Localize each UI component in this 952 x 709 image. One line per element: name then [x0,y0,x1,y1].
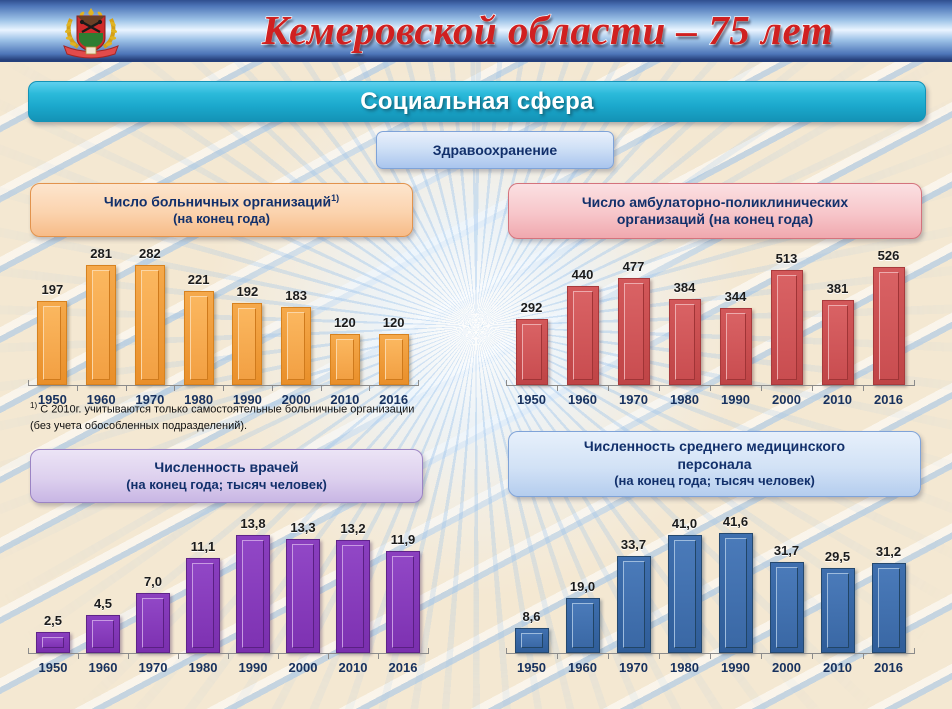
bar-value-label: 31,2 [863,544,914,559]
chart-plot-number-of-doctors: 2,54,57,011,113,813,313,211,9 [28,515,428,653]
axis-tick [77,385,78,391]
bar-category: 11,1 [178,515,228,653]
bar-category: 344 [710,250,761,385]
axis-tick [914,648,915,654]
bar-category: 183 [272,250,321,385]
axis-category-label: 1970 [608,392,659,407]
bar-inner-bevel [777,275,797,380]
bar-category: 384 [659,250,710,385]
chart-subtitle: (на конец года) [173,211,270,227]
chart-axis-outpatient-organizations [506,385,914,392]
axis-tick [710,385,711,391]
bar-value-label: 13,8 [228,516,278,531]
bar-series: 292440477384344513381526 [506,250,914,385]
bar-inner-bevel [674,540,696,648]
bar-inner-bevel [292,544,314,648]
axis-tick [278,653,279,659]
axis-category-label: 1950 [506,392,557,407]
bar-value-label: 8,6 [506,609,557,624]
bar [86,265,116,385]
chart-title-line1: Число амбулаторно-поликлинических [582,194,848,212]
bar-inner-bevel [385,339,403,380]
bar-category: 31,2 [863,505,914,653]
bar-category: 513 [761,250,812,385]
bar [770,562,804,653]
bar-inner-bevel [726,313,746,380]
bar-inner-bevel [827,573,849,648]
bar-inner-bevel [42,637,64,648]
bar-inner-bevel [878,568,900,648]
chart-plot-hospital-organizations: 197281282221192183120120 [28,250,418,385]
bar-category: 33,7 [608,505,659,653]
bar [617,556,651,653]
bar-category: 19,0 [557,505,608,653]
axis-tick [328,653,329,659]
bar-category: 11,9 [378,515,428,653]
bar [281,307,311,385]
header-banner: Кемеровской области – 75 лет [0,0,952,62]
bar-inner-bevel [336,339,354,380]
axis-category-label: 2016 [863,660,914,675]
axis-tick [378,653,379,659]
bar-category: 192 [223,250,272,385]
chart-title-line1: Численность врачей [154,459,298,477]
bar-inner-bevel [92,620,114,648]
subsection-label: Здравоохранение [433,142,557,158]
bar-category: 197 [28,250,77,385]
axis-tick [28,380,29,386]
axis-tick [418,380,419,386]
bar [872,563,906,653]
bar-value-label: 19,0 [557,579,608,594]
footnote: 1) С 2010г. учитываются только самостоят… [30,400,430,435]
bar-value-label: 29,5 [812,549,863,564]
bar-category: 13,2 [328,515,378,653]
axis-tick [608,653,609,659]
bar-inner-bevel [879,272,899,380]
axis-tick [369,385,370,391]
bar-inner-bevel [675,304,695,380]
bar-value-label: 4,5 [78,596,128,611]
axis-tick [812,653,813,659]
axis-category-label: 2010 [328,660,378,675]
axis-category-label: 2016 [378,660,428,675]
axis-category-label: 2000 [278,660,328,675]
bar [618,278,650,385]
bar-category: 4,5 [78,515,128,653]
bar-value-label: 292 [506,300,557,315]
axis-tick [223,385,224,391]
axis-category-label: 1990 [228,660,278,675]
axis-tick [178,653,179,659]
bar-category: 41,0 [659,505,710,653]
axis-tick [506,648,507,654]
chart-title-outpatient-organizations: Число амбулаторно-поликлинических органи… [508,183,922,239]
bar-series: 197281282221192183120120 [28,250,418,385]
bar-value-label: 477 [608,259,659,274]
bar-category: 381 [812,250,863,385]
bar [516,319,548,385]
bar-category: 2,5 [28,515,78,653]
bar-value-label: 31,7 [761,543,812,558]
bar-value-label: 197 [28,282,77,297]
axis-category-label: 2010 [812,392,863,407]
bar-inner-bevel [776,567,798,648]
bar [336,540,370,653]
bar-value-label: 2,5 [28,613,78,628]
kemerovo-coat-of-arms-icon [58,3,124,59]
axis-tick [28,648,29,654]
axis-tick [914,380,915,386]
bar-inner-bevel [522,324,542,380]
bar-inner-bevel [572,603,594,648]
axis-category-label: 1980 [178,660,228,675]
bar [567,286,599,385]
chart-title-nursing-staff: Численность среднего медицинского персон… [508,431,921,497]
bar [719,533,753,653]
chart-axis-hospital-organizations [28,385,418,392]
axis-tick [710,653,711,659]
bar-value-label: 11,1 [178,539,228,554]
bar-inner-bevel [573,291,593,380]
bar-category: 120 [369,250,418,385]
bar-inner-bevel [43,306,61,380]
bar [668,535,702,653]
axis-category-label: 1970 [608,660,659,675]
axis-tick [557,653,558,659]
axis-category-label: 1960 [78,660,128,675]
axis-category-label: 1980 [659,392,710,407]
bar [86,615,120,653]
axis-tick [659,653,660,659]
bar-value-label: 440 [557,267,608,282]
chart-xlabels-outpatient-organizations: 19501960197019801990200020102016 [506,392,914,407]
bar [566,598,600,653]
bar-value-label: 41,0 [659,516,710,531]
axis-tick [506,380,507,386]
axis-tick [608,385,609,391]
bar-value-label: 13,2 [328,521,378,536]
bar [236,535,270,653]
bar [37,301,67,385]
chart-xlabels-nursing-staff: 19501960197019801990200020102016 [506,660,914,675]
bar [330,334,360,385]
bar-value-label: 183 [272,288,321,303]
chart-plot-nursing-staff: 8,619,033,741,041,631,729,531,2 [506,505,914,653]
axis-tick [428,648,429,654]
bar-category: 13,3 [278,515,328,653]
bar [36,632,70,653]
axis-category-label: 2016 [863,392,914,407]
bar [286,539,320,653]
bar-category: 31,7 [761,505,812,653]
bar-category: 477 [608,250,659,385]
chart-axis-nursing-staff [506,653,914,660]
bar-inner-bevel [392,556,414,648]
axis-category-label: 1960 [557,392,608,407]
bar [669,299,701,385]
bar-value-label: 384 [659,280,710,295]
bar-value-label: 13,3 [278,520,328,535]
bar-inner-bevel [287,312,305,380]
subsection-badge: Здравоохранение [376,131,614,169]
bar-value-label: 120 [369,315,418,330]
bar-category: 8,6 [506,505,557,653]
chart-subtitle: (на конец года; тысяч человек) [126,477,327,493]
bar [186,558,220,653]
bar [822,300,854,385]
bar-series: 8,619,033,741,041,631,729,531,2 [506,505,914,653]
axis-tick [761,653,762,659]
chart-title-line2: организаций (на конец года) [617,211,813,229]
bar [720,308,752,385]
axis-tick [126,385,127,391]
bar-category: 526 [863,250,914,385]
axis-category-label: 2000 [761,392,812,407]
axis-tick [812,385,813,391]
axis-tick [761,385,762,391]
axis-category-label: 2000 [761,660,812,675]
axis-tick [863,385,864,391]
axis-tick [174,385,175,391]
bar-inner-bevel [725,538,747,648]
page-title: Кемеровской области – 75 лет [175,2,920,58]
section-header-label: Социальная сфера [360,88,594,116]
bar-category: 221 [174,250,223,385]
footnote-text: С 2010г. учитываются только самостоятель… [30,404,414,432]
bar-series: 2,54,57,011,113,813,313,211,9 [28,515,428,653]
axis-category-label: 1960 [557,660,608,675]
bar-category: 440 [557,250,608,385]
bar-inner-bevel [141,270,159,380]
footnote-marker-text: 1) [30,401,37,410]
bar [821,568,855,653]
chart-title-line1: Число больничных организаций1) [104,193,339,211]
bar-inner-bevel [242,540,264,648]
axis-category-label: 1990 [710,660,761,675]
bar-category: 7,0 [128,515,178,653]
bar-value-label: 7,0 [128,574,178,589]
axis-tick [272,385,273,391]
bar [135,265,165,385]
bar [515,628,549,653]
bar-inner-bevel [623,561,645,648]
bar-category: 281 [77,250,126,385]
axis-category-label: 1990 [710,392,761,407]
bar-category: 120 [321,250,370,385]
chart-title-line1: Численность среднего медицинского [584,438,845,456]
bar-value-label: 221 [174,272,223,287]
bar-inner-bevel [521,633,543,648]
bar-category: 41,6 [710,505,761,653]
bar-category: 13,8 [228,515,278,653]
bar-inner-bevel [142,598,164,648]
bar-value-label: 513 [761,251,812,266]
bar-value-label: 381 [812,281,863,296]
bar-inner-bevel [192,563,214,648]
chart-plot-outpatient-organizations: 292440477384344513381526 [506,250,914,385]
bar-category: 282 [126,250,175,385]
axis-category-label: 1950 [506,660,557,675]
bar-value-label: 282 [126,246,175,261]
bar-inner-bevel [342,545,364,648]
axis-category-label: 1980 [659,660,710,675]
bar-value-label: 281 [77,246,126,261]
bar-value-label: 192 [223,284,272,299]
section-header: Социальная сфера [28,81,926,122]
bar [386,551,420,653]
axis-tick [557,385,558,391]
chart-subtitle: (на конец года; тысяч человек) [614,473,815,489]
bar-value-label: 41,6 [710,514,761,529]
bar [873,267,905,385]
axis-tick [128,653,129,659]
bar-inner-bevel [238,308,256,380]
bar [232,303,262,385]
bar-value-label: 33,7 [608,537,659,552]
axis-category-label: 1950 [28,660,78,675]
bar [379,334,409,385]
axis-tick [228,653,229,659]
bar-inner-bevel [92,270,110,380]
footnote-marker: 1) [331,193,339,203]
axis-tick [78,653,79,659]
bar-value-label: 120 [321,315,370,330]
bar [184,291,214,385]
chart-title-number-of-doctors: Численность врачей (на конец года; тысяч… [30,449,423,503]
chart-axis-number-of-doctors [28,653,428,660]
bar-value-label: 11,9 [378,532,428,547]
bar-category: 29,5 [812,505,863,653]
bar-inner-bevel [190,296,208,380]
bar-category: 292 [506,250,557,385]
axis-tick [659,385,660,391]
bar-value-label: 526 [863,248,914,263]
slide-root: Кемеровской области – 75 лет Социальная … [0,0,952,709]
bar-inner-bevel [828,305,848,380]
axis-tick [863,653,864,659]
axis-category-label: 2010 [812,660,863,675]
axis-category-label: 1970 [128,660,178,675]
chart-title-hospital-organizations: Число больничных организаций1) (на конец… [30,183,413,237]
chart-title-line2: персонала [677,456,751,474]
bar [136,593,170,653]
bar-value-label: 344 [710,289,761,304]
chart-xlabels-number-of-doctors: 19501960197019801990200020102016 [28,660,428,675]
axis-tick [321,385,322,391]
bar [771,270,803,385]
bar-inner-bevel [624,283,644,380]
